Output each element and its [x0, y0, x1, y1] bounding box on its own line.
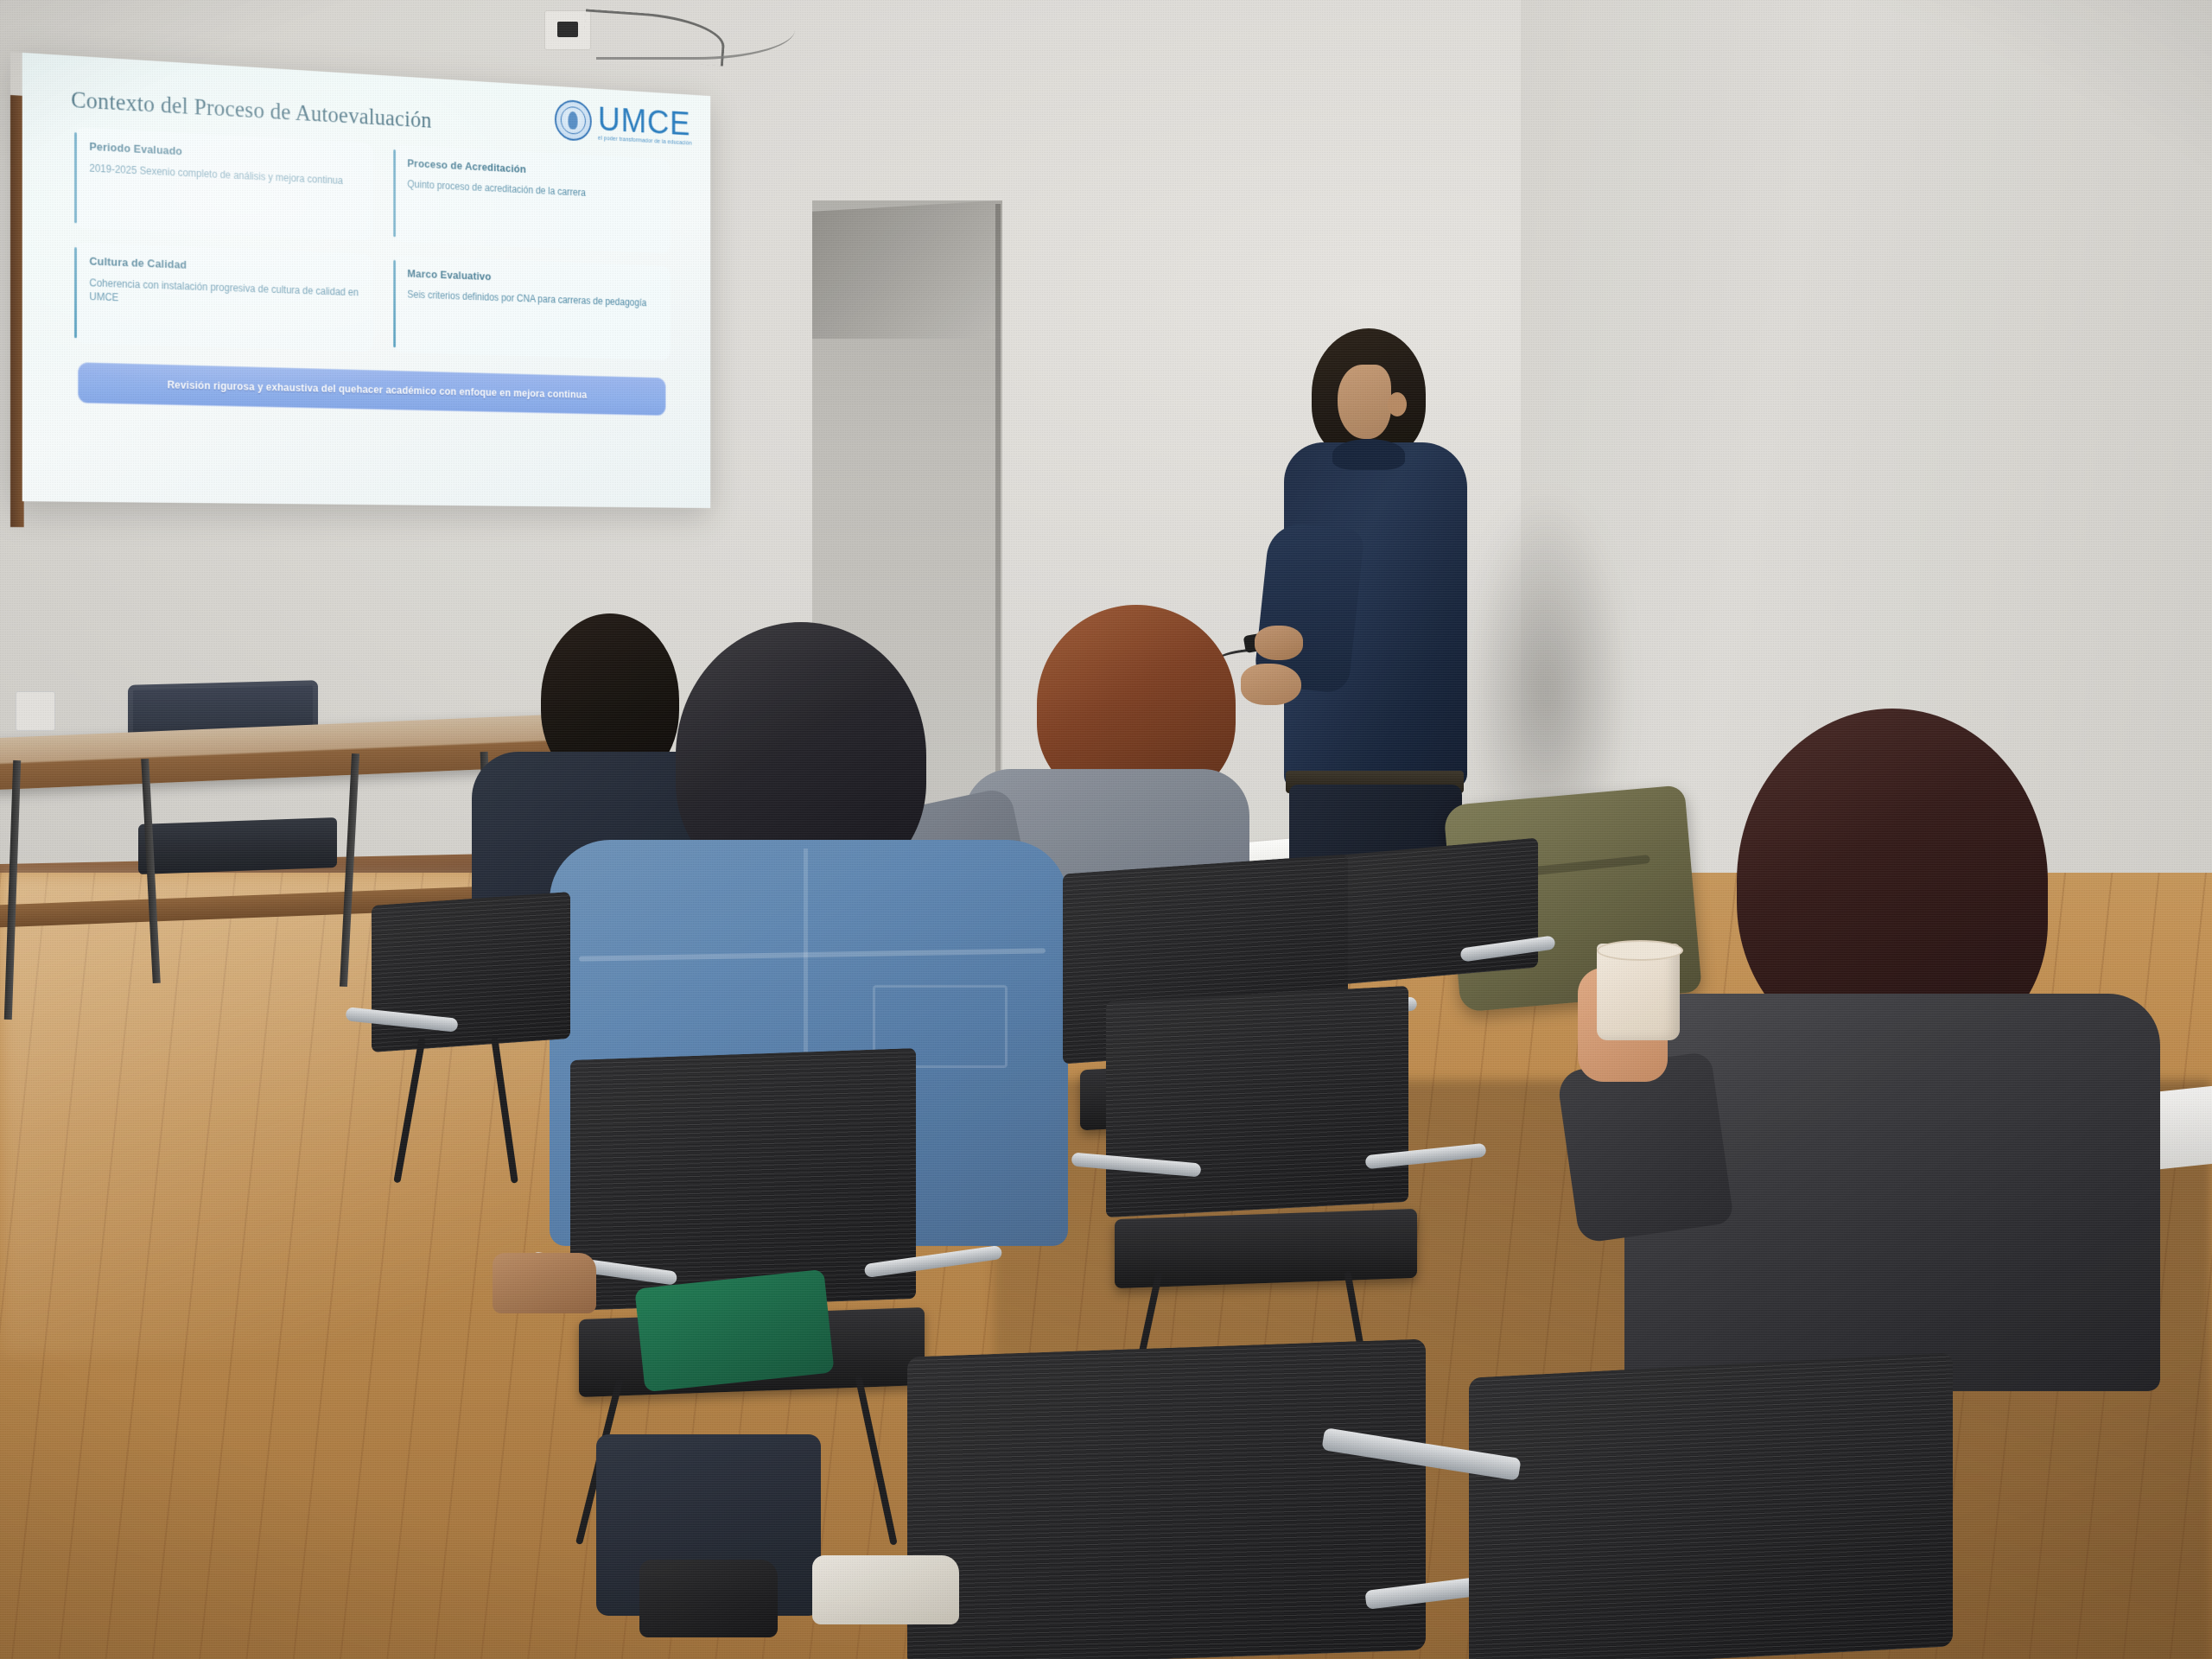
- card-text: Seis criterios definidos por CNA para ca…: [407, 288, 658, 310]
- slide-card: Cultura de Calidad Coherencia con instal…: [74, 242, 373, 352]
- chair-backrest: [1106, 986, 1408, 1217]
- power-cable-secondary: [596, 0, 795, 60]
- card-title: Cultura de Calidad: [89, 255, 360, 278]
- wall-outlet-left-icon: [16, 691, 55, 731]
- shoe: [639, 1560, 778, 1637]
- projection-screen: UMCE el poder transformador de la educac…: [10, 52, 710, 508]
- slide-card: Proceso de Acreditación Quinto proceso d…: [393, 144, 671, 253]
- umce-logo: UMCE el poder transformador de la educac…: [555, 99, 692, 148]
- chair-backrest: [1469, 1352, 1953, 1659]
- umce-wordmark: UMCE: [598, 103, 692, 140]
- card-title: Marco Evaluativo: [407, 267, 658, 289]
- slide-banner-text: Revisión rigurosa y exhaustiva del queha…: [167, 379, 587, 401]
- coffee-mug-rim: [1597, 940, 1683, 961]
- folding-chair: [907, 1348, 1443, 1659]
- green-bag: [634, 1269, 834, 1392]
- presenter-hand-upper: [1255, 626, 1303, 660]
- card-text: 2019-2025 Sexenio completo de análisis y…: [89, 162, 360, 188]
- chair-leg: [393, 1038, 425, 1184]
- slide-card-grid: Periodo Evaluado 2019-2025 Sexenio compl…: [74, 127, 671, 360]
- card-text: Quinto proceso de acreditación de la car…: [407, 177, 658, 203]
- attendee-1-foot: [493, 1253, 596, 1313]
- presenter-ear: [1388, 392, 1407, 416]
- presenter-hand-lower: [1241, 664, 1301, 705]
- card-text: Coherencia con instalación progresiva de…: [89, 276, 360, 313]
- umce-seal-icon: [555, 99, 592, 142]
- wall-recess-bevel: [812, 200, 1002, 339]
- slide-card: Periodo Evaluado 2019-2025 Sexenio compl…: [74, 127, 373, 241]
- chair-backrest: [372, 892, 570, 1052]
- slide-surface: UMCE el poder transformador de la educac…: [22, 53, 711, 508]
- background-chair-seat: [138, 817, 337, 874]
- room-photo-scene: UMCE el poder transformador de la educac…: [0, 0, 2212, 1659]
- presenter-face: [1338, 365, 1391, 439]
- presenter-collar: [1332, 439, 1405, 470]
- attendee-4: [1607, 709, 2160, 1382]
- card-title: Proceso de Acreditación: [407, 156, 658, 181]
- shoe-light: [812, 1555, 959, 1624]
- slide-card: Marco Evaluativo Seis criterios definido…: [393, 255, 671, 360]
- slide-banner: Revisión rigurosa y exhaustiva del queha…: [78, 362, 666, 416]
- folding-chair: [1469, 1331, 2074, 1659]
- chair-leg: [491, 1037, 518, 1183]
- chair-backrest: [907, 1339, 1426, 1659]
